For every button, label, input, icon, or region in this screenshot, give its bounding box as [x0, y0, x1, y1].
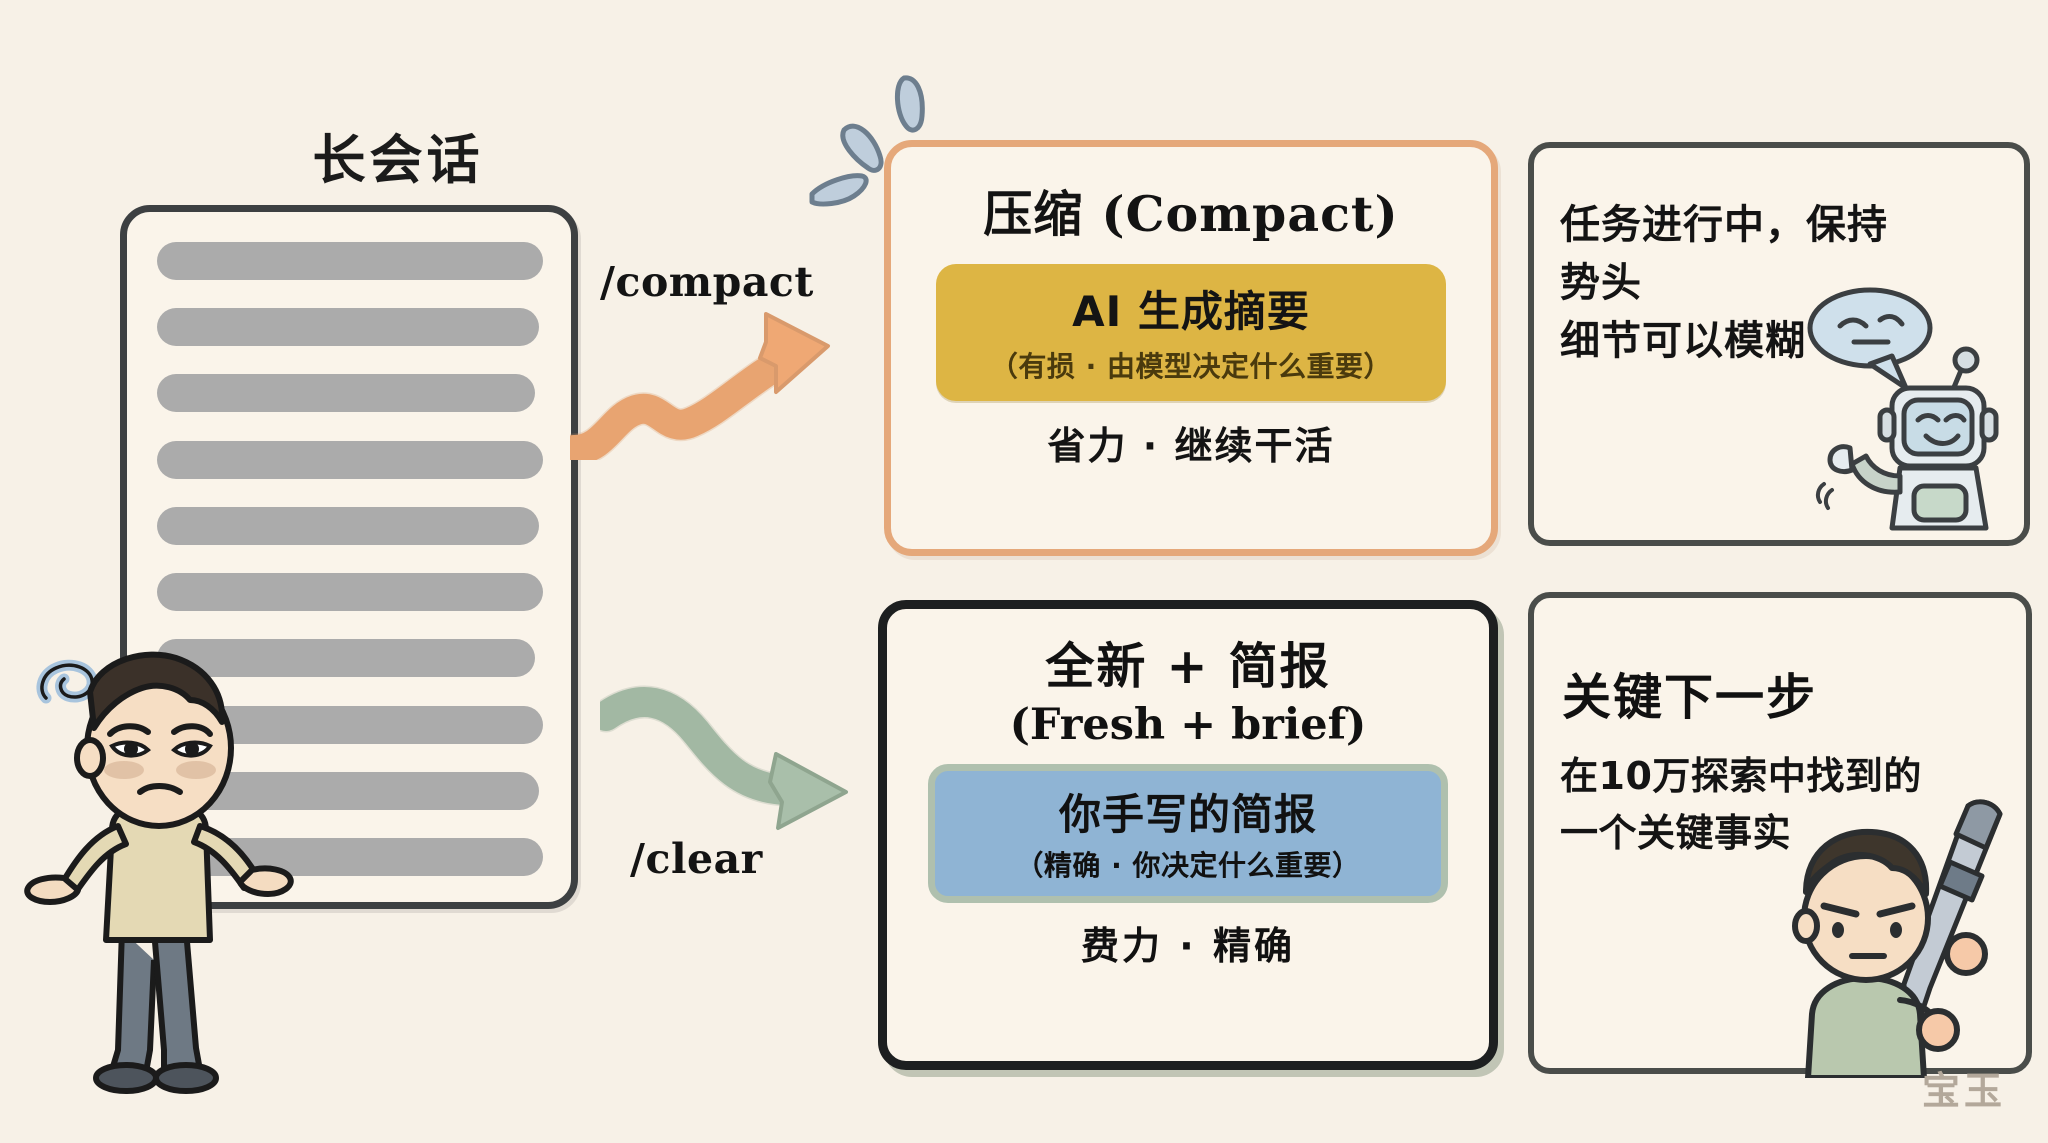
tired-shrugging-man: [14, 630, 304, 1100]
compact-summary-main: AI 生成摘要: [936, 278, 1446, 339]
robot-panel-line1: 任务进行中，保持: [1560, 196, 1890, 254]
writer-panel-heading: 关键下一步: [1562, 658, 1817, 729]
document-line: [157, 507, 539, 545]
clear-option-card[interactable]: 全新 + 简报 (Fresh + brief) 你手写的简报 （精确 · 你决定…: [878, 600, 1498, 1070]
document-line: [157, 374, 535, 412]
compact-option-card[interactable]: 压缩 (Compact) AI 生成摘要 （有损 · 由模型决定什么重要） 省力…: [884, 140, 1498, 556]
compact-card-footer: 省力 · 继续干活: [891, 415, 1491, 470]
clear-brief-sub: （精确 · 你决定什么重要）: [935, 844, 1441, 884]
clear-card-title-en: (Fresh + brief): [887, 700, 1489, 750]
compact-command-label: /compact: [600, 258, 814, 306]
page-title: 长会话: [228, 118, 568, 194]
compact-title-en: (Compact): [1101, 185, 1398, 243]
illustration-canvas: 长会话: [0, 0, 2048, 1143]
compact-summary-sub: （有损 · 由模型决定什么重要）: [936, 345, 1446, 385]
smiling-robot-icon: [1796, 284, 2016, 534]
watermark: 宝玉: [1922, 1060, 2006, 1115]
clear-arrow-icon: [600, 680, 890, 850]
document-line: [157, 242, 543, 280]
compact-title-cn: 压缩: [983, 186, 1083, 243]
compact-summary-box: AI 生成摘要 （有损 · 由模型决定什么重要）: [936, 264, 1446, 401]
compact-card-title: 压缩 (Compact): [891, 175, 1491, 246]
clear-brief-box: 你手写的简报 （精确 · 你决定什么重要）: [928, 764, 1448, 903]
compact-arrow-icon: [570, 300, 870, 460]
document-line: [157, 441, 543, 479]
boy-with-pen-icon: [1780, 788, 2030, 1078]
clear-card-footer: 费力 · 精确: [887, 915, 1489, 970]
compact-benefit-panel: 任务进行中，保持 势头 细节可以模糊: [1528, 142, 2030, 546]
clear-card-title-cn: 全新 + 简报: [887, 627, 1489, 698]
document-line: [157, 308, 539, 346]
clear-brief-main: 你手写的简报: [935, 781, 1441, 842]
document-line: [157, 573, 543, 611]
clear-benefit-panel: 关键下一步 在10万探索中找到的 一个关键事实: [1528, 592, 2032, 1074]
